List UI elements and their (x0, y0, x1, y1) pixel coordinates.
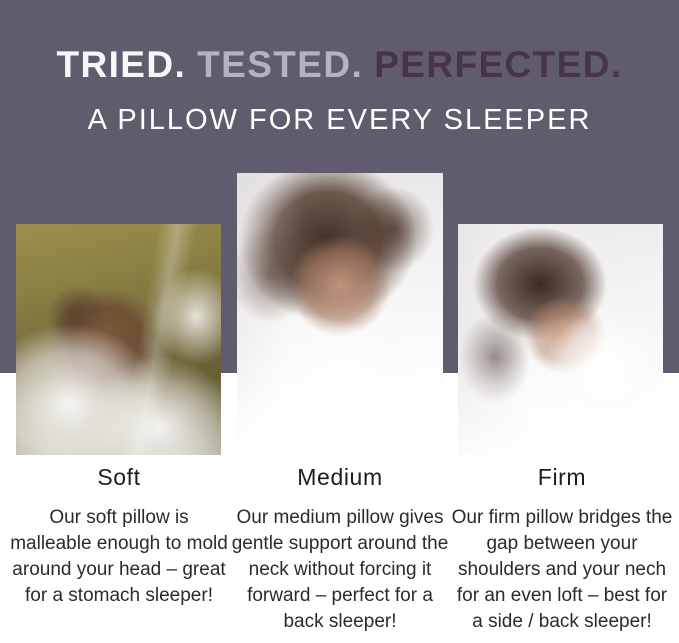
woman-side-sleeping-on-firm-pillow-photo (458, 224, 663, 455)
headline-word-perfected: PERFECTED. (374, 44, 622, 85)
soft-pillow-image-card (16, 224, 221, 455)
headline-word-tried: TRIED. (56, 44, 186, 85)
caption-label-firm: Firm (450, 464, 674, 491)
pillow-firmness-infographic: TRIED.TESTED.PERFECTED. A PILLOW FOR EVE… (0, 0, 679, 643)
caption-body-firm: Our firm pillow bridges the gap between … (450, 505, 674, 635)
headline-word-tested: TESTED. (197, 44, 363, 85)
medium-pillow-image-card (237, 173, 443, 455)
firm-pillow-image-card (458, 224, 663, 455)
woman-sleeping-on-medium-pillow-photo (237, 173, 443, 455)
caption-body-soft: Our soft pillow is malleable enough to m… (8, 505, 230, 609)
caption-label-soft: Soft (8, 464, 230, 491)
caption-body-medium: Our medium pillow gives gentle support a… (228, 505, 452, 635)
page-subtitle: A PILLOW FOR EVERY SLEEPER (0, 104, 679, 137)
caption-label-medium: Medium (228, 464, 452, 491)
man-sleeping-on-soft-pillow-photo (16, 224, 221, 455)
page-title: TRIED.TESTED.PERFECTED. (0, 46, 679, 85)
